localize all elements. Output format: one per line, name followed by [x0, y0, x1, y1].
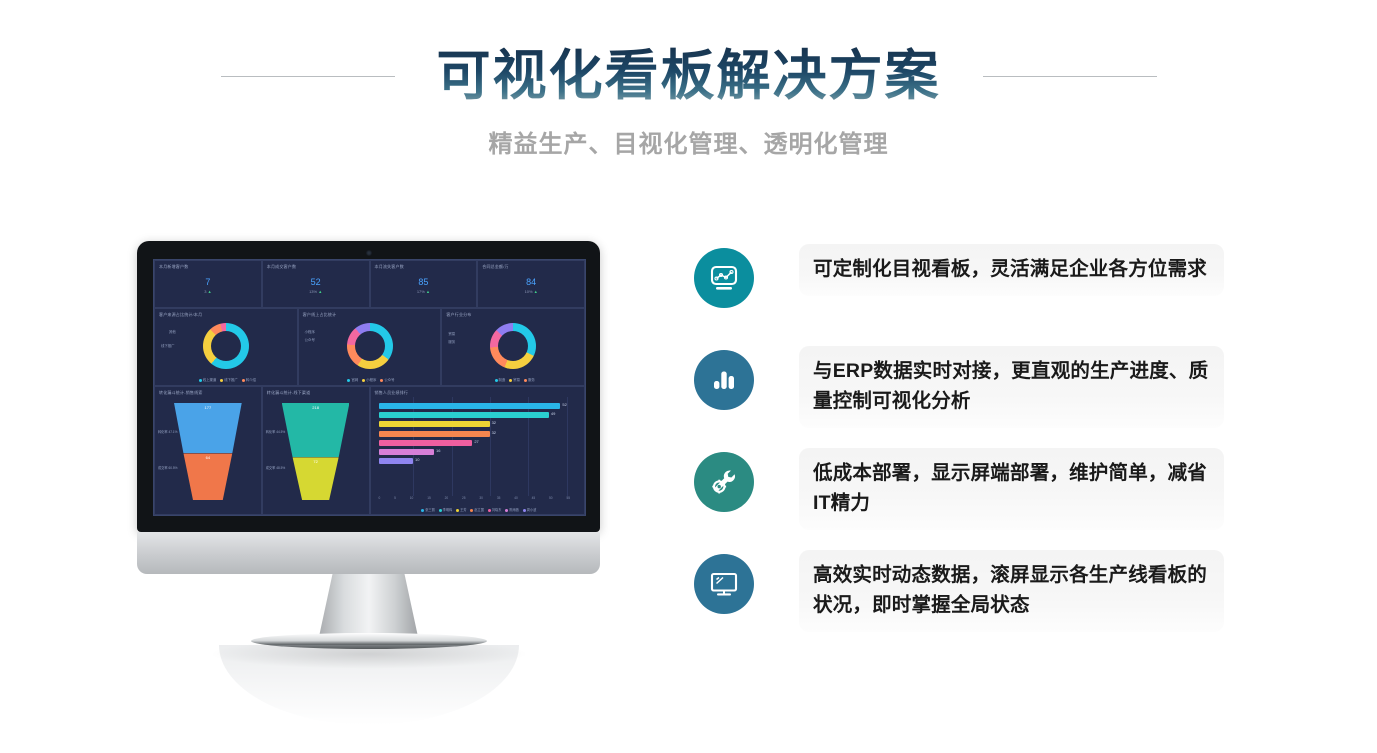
- page-title: 可视化看板解决方案: [437, 44, 941, 108]
- legend-swatch: [488, 509, 491, 512]
- x-tick: 30: [479, 496, 483, 502]
- kpi-value: 85: [371, 277, 477, 288]
- bar-value: 27: [474, 439, 478, 444]
- bar-value: 10: [415, 457, 419, 462]
- feature-item-1[interactable]: 可定制化目视看板，灵活满足企业各方位需求: [694, 240, 1224, 342]
- bar-legend: 张三丽 李明辉 王芳 赵立国 刘晓东 陈雨薇 周小波: [371, 507, 585, 512]
- bar-item: 27: [379, 440, 473, 446]
- legend-swatch: [362, 379, 365, 382]
- title-row: 可视化看板解决方案: [0, 42, 1377, 110]
- trend-up-icon: ▲: [208, 289, 212, 294]
- legend-label: 周小波: [527, 508, 537, 512]
- feature-text: 低成本部署，显示屏端部署，维护简单，减省IT精力: [813, 458, 1210, 518]
- donut-wrap: [299, 323, 441, 369]
- funnel-value: 64: [174, 455, 242, 460]
- bar-value: 16: [436, 448, 440, 453]
- x-tick: 0: [379, 496, 381, 502]
- bottom-row: 转化漏斗统计-销售线索 转化率 47.1% 成交率 60.5% 177 64: [154, 386, 585, 515]
- legend-swatch: [220, 379, 223, 382]
- legend-label: 刘晓东: [492, 508, 502, 512]
- dashboard: 本月新增客户数 7 3 ▲ 本月成交客户数 52 13% ▲: [154, 260, 585, 515]
- bar-value: 49: [551, 411, 555, 416]
- legend-swatch: [509, 379, 512, 382]
- legend-swatch: [470, 509, 473, 512]
- kpi-value: 84: [478, 277, 584, 288]
- legend-label: 服务: [528, 378, 535, 382]
- legend-swatch: [505, 509, 508, 512]
- feature-text: 高效实时动态数据，滚屏显示各生产线看板的状况，即时掌握全局状态: [813, 560, 1210, 620]
- donut-legend: 官网 小程序 公众号: [299, 377, 441, 382]
- kpi-delta: 17% ▲: [371, 289, 477, 294]
- x-tick: 5: [394, 496, 396, 502]
- dashboard-screen: 本月新增客户数 7 3 ▲ 本月成交客户数 52 13% ▲: [153, 259, 586, 516]
- trend-up-icon: ▲: [534, 289, 538, 294]
- monitor-chin: [137, 532, 600, 574]
- x-tick: 15: [427, 496, 431, 502]
- legend-swatch: [380, 379, 383, 382]
- x-axis: 0 5 10 15 20 25 30 35 40 45 50: [379, 496, 571, 502]
- legend-swatch: [523, 509, 526, 512]
- funnel-card-title: 转化漏斗统计-线下渠道: [267, 390, 311, 396]
- trend-up-icon: ▲: [318, 289, 322, 294]
- bar-chart-title: 销售人员业绩排行: [375, 390, 409, 396]
- kpi-body: 7 3 ▲: [155, 277, 261, 294]
- legend-label: 张三丽: [425, 508, 435, 512]
- funnel-card: 转化漏斗统计-线下渠道 转化率 44.5% 成交率 48.5% 218 72: [262, 386, 370, 515]
- kpi-card-title: 合同总金额/万: [482, 264, 509, 270]
- feature-text: 可定制化目视看板，灵活满足企业各方位需求: [813, 254, 1210, 284]
- kpi-value: 7: [155, 277, 261, 288]
- legend-swatch: [456, 509, 459, 512]
- kpi-delta: 3 ▲: [155, 289, 261, 294]
- kpi-body: 84 10% ▲: [478, 277, 584, 294]
- legend-swatch: [495, 379, 498, 382]
- bar-value: 32: [492, 430, 496, 435]
- legend-label: 赵立国: [474, 508, 484, 512]
- display-screen-icon: [694, 554, 754, 614]
- funnel-value: 218: [282, 405, 350, 410]
- donut-card: 客户行业分布 贸易 服务 制造 贸易 服务: [441, 308, 585, 386]
- webcam-icon: [366, 250, 372, 256]
- funnel-segment: 72: [282, 457, 350, 500]
- kpi-card: 本月新增客户数 7 3 ▲: [154, 260, 262, 308]
- trend-up-icon: ▲: [426, 289, 430, 294]
- x-tick: 40: [514, 496, 518, 502]
- donut-legend: 线上渠道 线下推广 转介绍: [155, 377, 297, 382]
- funnel-value: 177: [174, 405, 242, 410]
- bar-value: 32: [492, 420, 496, 425]
- x-tick: 20: [445, 496, 449, 502]
- page-root: 可视化看板解决方案 精益生产、目视化管理、透明化管理 本月新增客户数 7 3 ▲: [0, 0, 1377, 753]
- feature-item-3[interactable]: 低成本部署，显示屏端部署，维护简单，减省IT精力: [694, 444, 1224, 546]
- x-tick: 45: [532, 496, 536, 502]
- legend-swatch: [439, 509, 442, 512]
- feature-text-panel: 高效实时动态数据，滚屏显示各生产线看板的状况，即时掌握全局状态: [799, 550, 1224, 632]
- legend-label: 贸易: [513, 378, 520, 382]
- legend-label: 转介绍: [246, 378, 256, 382]
- funnel-segment: 218: [282, 403, 350, 457]
- bar-item: 52: [379, 403, 561, 409]
- funnel-chart: 218 72: [282, 403, 350, 500]
- kpi-delta-value: 13%: [309, 289, 317, 294]
- legend-label: 制造: [499, 378, 506, 382]
- monitor-line-chart-icon: [694, 248, 754, 308]
- title-rule-right: [983, 76, 1157, 77]
- bar-chart-icon: [694, 350, 754, 410]
- kpi-card: 本月流失客户数 85 17% ▲: [370, 260, 478, 308]
- title-rule-left: [221, 76, 395, 77]
- legend-label: 小程序: [366, 378, 376, 382]
- feature-text-panel: 低成本部署，显示屏端部署，维护简单，减省IT精力: [799, 448, 1224, 530]
- bar-item: 32: [379, 421, 490, 427]
- feature-item-2[interactable]: 与ERP数据实时对接，更直观的生产进度、质量控制可视化分析: [694, 342, 1224, 444]
- monitor-bezel: 本月新增客户数 7 3 ▲ 本月成交客户数 52 13% ▲: [137, 241, 600, 532]
- kpi-card-title: 本月新增客户数: [159, 264, 188, 270]
- kpi-card: 合同总金额/万 84 10% ▲: [477, 260, 585, 308]
- x-tick: 35: [497, 496, 501, 502]
- donut-chart: [347, 323, 393, 369]
- monitor-neck: [319, 574, 419, 639]
- donut-card-title: 客户来源占比统计/本月: [159, 312, 202, 318]
- monitor-reflection: [219, 645, 519, 725]
- x-tick: 50: [549, 496, 553, 502]
- legend-label: 陈雨薇: [509, 508, 519, 512]
- funnel-segment: 177: [174, 403, 242, 453]
- bar-series: 52 49 32 32 27 16 10: [379, 403, 571, 494]
- funnel-card: 转化漏斗统计-销售线索 转化率 47.1% 成交率 60.5% 177 64: [154, 386, 262, 515]
- funnel-chart: 177 64: [174, 403, 242, 500]
- legend-label: 李明辉: [443, 508, 453, 512]
- donut-row: 客户来源占比统计/本月 线下推广 其他 线上渠道 线下推广 转介绍: [154, 308, 585, 386]
- kpi-delta: 10% ▲: [478, 289, 584, 294]
- bar-chart-card: 销售人员业绩排行 52 49 32 32 27: [370, 386, 586, 515]
- kpi-body: 52 13% ▲: [263, 277, 369, 294]
- donut-legend: 制造 贸易 服务: [442, 377, 584, 382]
- legend-label: 线上渠道: [203, 378, 217, 382]
- donut-card: 客户线上占比统计 小程序 公众号 官网 小程序 公众号: [298, 308, 442, 386]
- bar-value: 52: [562, 402, 566, 407]
- legend-swatch: [524, 379, 527, 382]
- feature-item-4[interactable]: 高效实时动态数据，滚屏显示各生产线看板的状况，即时掌握全局状态: [694, 546, 1224, 648]
- page-header: 可视化看板解决方案 精益生产、目视化管理、透明化管理: [0, 0, 1377, 185]
- legend-label: 公众号: [384, 378, 394, 382]
- feature-text: 与ERP数据实时对接，更直观的生产进度、质量控制可视化分析: [813, 356, 1210, 416]
- kpi-card: 本月成交客户数 52 13% ▲: [262, 260, 370, 308]
- feature-list: 可定制化目视看板，灵活满足企业各方位需求 与ERP数据实时对接，更直观的生产进度…: [694, 240, 1224, 650]
- kpi-delta-value: 10%: [525, 289, 533, 294]
- legend-label: 王芳: [460, 508, 466, 512]
- feature-text-panel: 可定制化目视看板，灵活满足企业各方位需求: [799, 244, 1224, 296]
- x-tick: 10: [410, 496, 414, 502]
- legend-label: 线下推广: [224, 378, 238, 382]
- funnel-value: 72: [282, 459, 350, 464]
- donut-wrap: [442, 323, 584, 369]
- legend-swatch: [242, 379, 245, 382]
- kpi-delta-value: 17%: [417, 289, 425, 294]
- kpi-row: 本月新增客户数 7 3 ▲ 本月成交客户数 52 13% ▲: [154, 260, 585, 308]
- bar-item: 49: [379, 412, 549, 418]
- x-tick: 55: [566, 496, 570, 502]
- legend-label: 官网: [351, 378, 358, 382]
- kpi-card-title: 本月流失客户数: [375, 264, 404, 270]
- donut-card-title: 客户线上占比统计: [303, 312, 337, 318]
- donut-card: 客户来源占比统计/本月 线下推广 其他 线上渠道 线下推广 转介绍: [154, 308, 298, 386]
- wrench-gear-icon: [694, 452, 754, 512]
- kpi-card-title: 本月成交客户数: [267, 264, 296, 270]
- page-subtitle: 精益生产、目视化管理、透明化管理: [0, 124, 1377, 159]
- donut-chart: [203, 323, 249, 369]
- legend-swatch: [199, 379, 202, 382]
- bar-item: 32: [379, 431, 490, 437]
- kpi-delta: 13% ▲: [263, 289, 369, 294]
- funnel-segment: 64: [174, 453, 242, 500]
- x-tick: 25: [462, 496, 466, 502]
- bar-item: 10: [379, 458, 413, 464]
- kpi-delta-value: 3: [204, 289, 206, 294]
- kpi-value: 52: [263, 277, 369, 288]
- funnel-card-title: 转化漏斗统计-销售线索: [159, 390, 203, 396]
- monitor-mockup: 本月新增客户数 7 3 ▲ 本月成交客户数 52 13% ▲: [137, 241, 600, 671]
- legend-swatch: [421, 509, 424, 512]
- donut-chart: [490, 323, 536, 369]
- bar-item: 16: [379, 449, 435, 455]
- donut-wrap: [155, 323, 297, 369]
- kpi-body: 85 17% ▲: [371, 277, 477, 294]
- donut-card-title: 客户行业分布: [446, 312, 471, 318]
- feature-text-panel: 与ERP数据实时对接，更直观的生产进度、质量控制可视化分析: [799, 346, 1224, 428]
